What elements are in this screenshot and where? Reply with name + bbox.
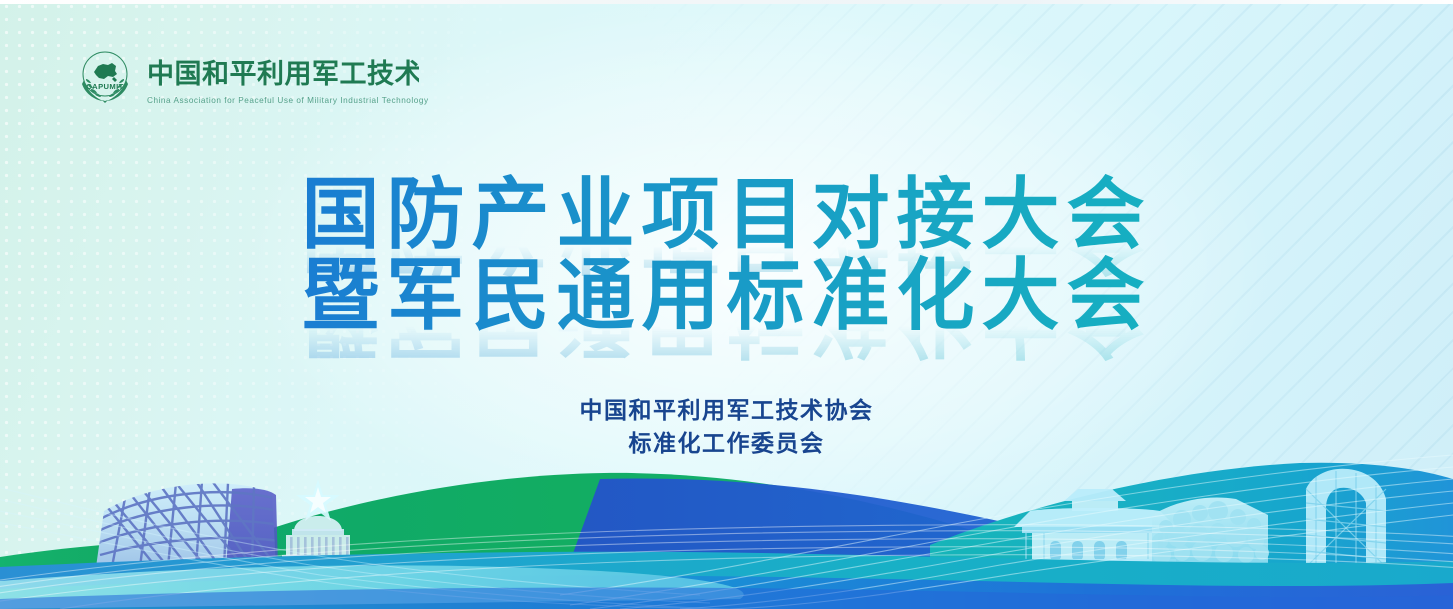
organization-name-en: China Association for Peaceful Use of Mi… — [147, 96, 429, 105]
city-skyline-scenery — [0, 449, 1453, 609]
subtitle-line-1: 中国和平利用军工技术协会 — [0, 394, 1453, 427]
main-title-block: 国防产业项目对接大会 国防产业项目对接大会 暨军民通用标准化大会 暨军民通用标准… — [0, 172, 1453, 363]
capumit-emblem-icon: CAPUMIT — [74, 44, 136, 114]
organization-name-cn-calligraphy: 中国和平利用军工技术协会 — [147, 54, 419, 94]
top-edge-highlight — [0, 0, 1453, 4]
association-logo: CAPUMIT 中国和平利用军工技术协会 — [74, 44, 429, 114]
title-line-2-reflection: 暨军民通用标准化大会 — [0, 323, 1453, 363]
conference-banner: CAPUMIT 中国和平利用军工技术协会 — [0, 0, 1453, 609]
logo-text-group: 中国和平利用军工技术协会 China Association for Peace… — [147, 54, 429, 105]
organization-name-cn-text: 中国和平利用军工技术协会 — [147, 59, 419, 89]
